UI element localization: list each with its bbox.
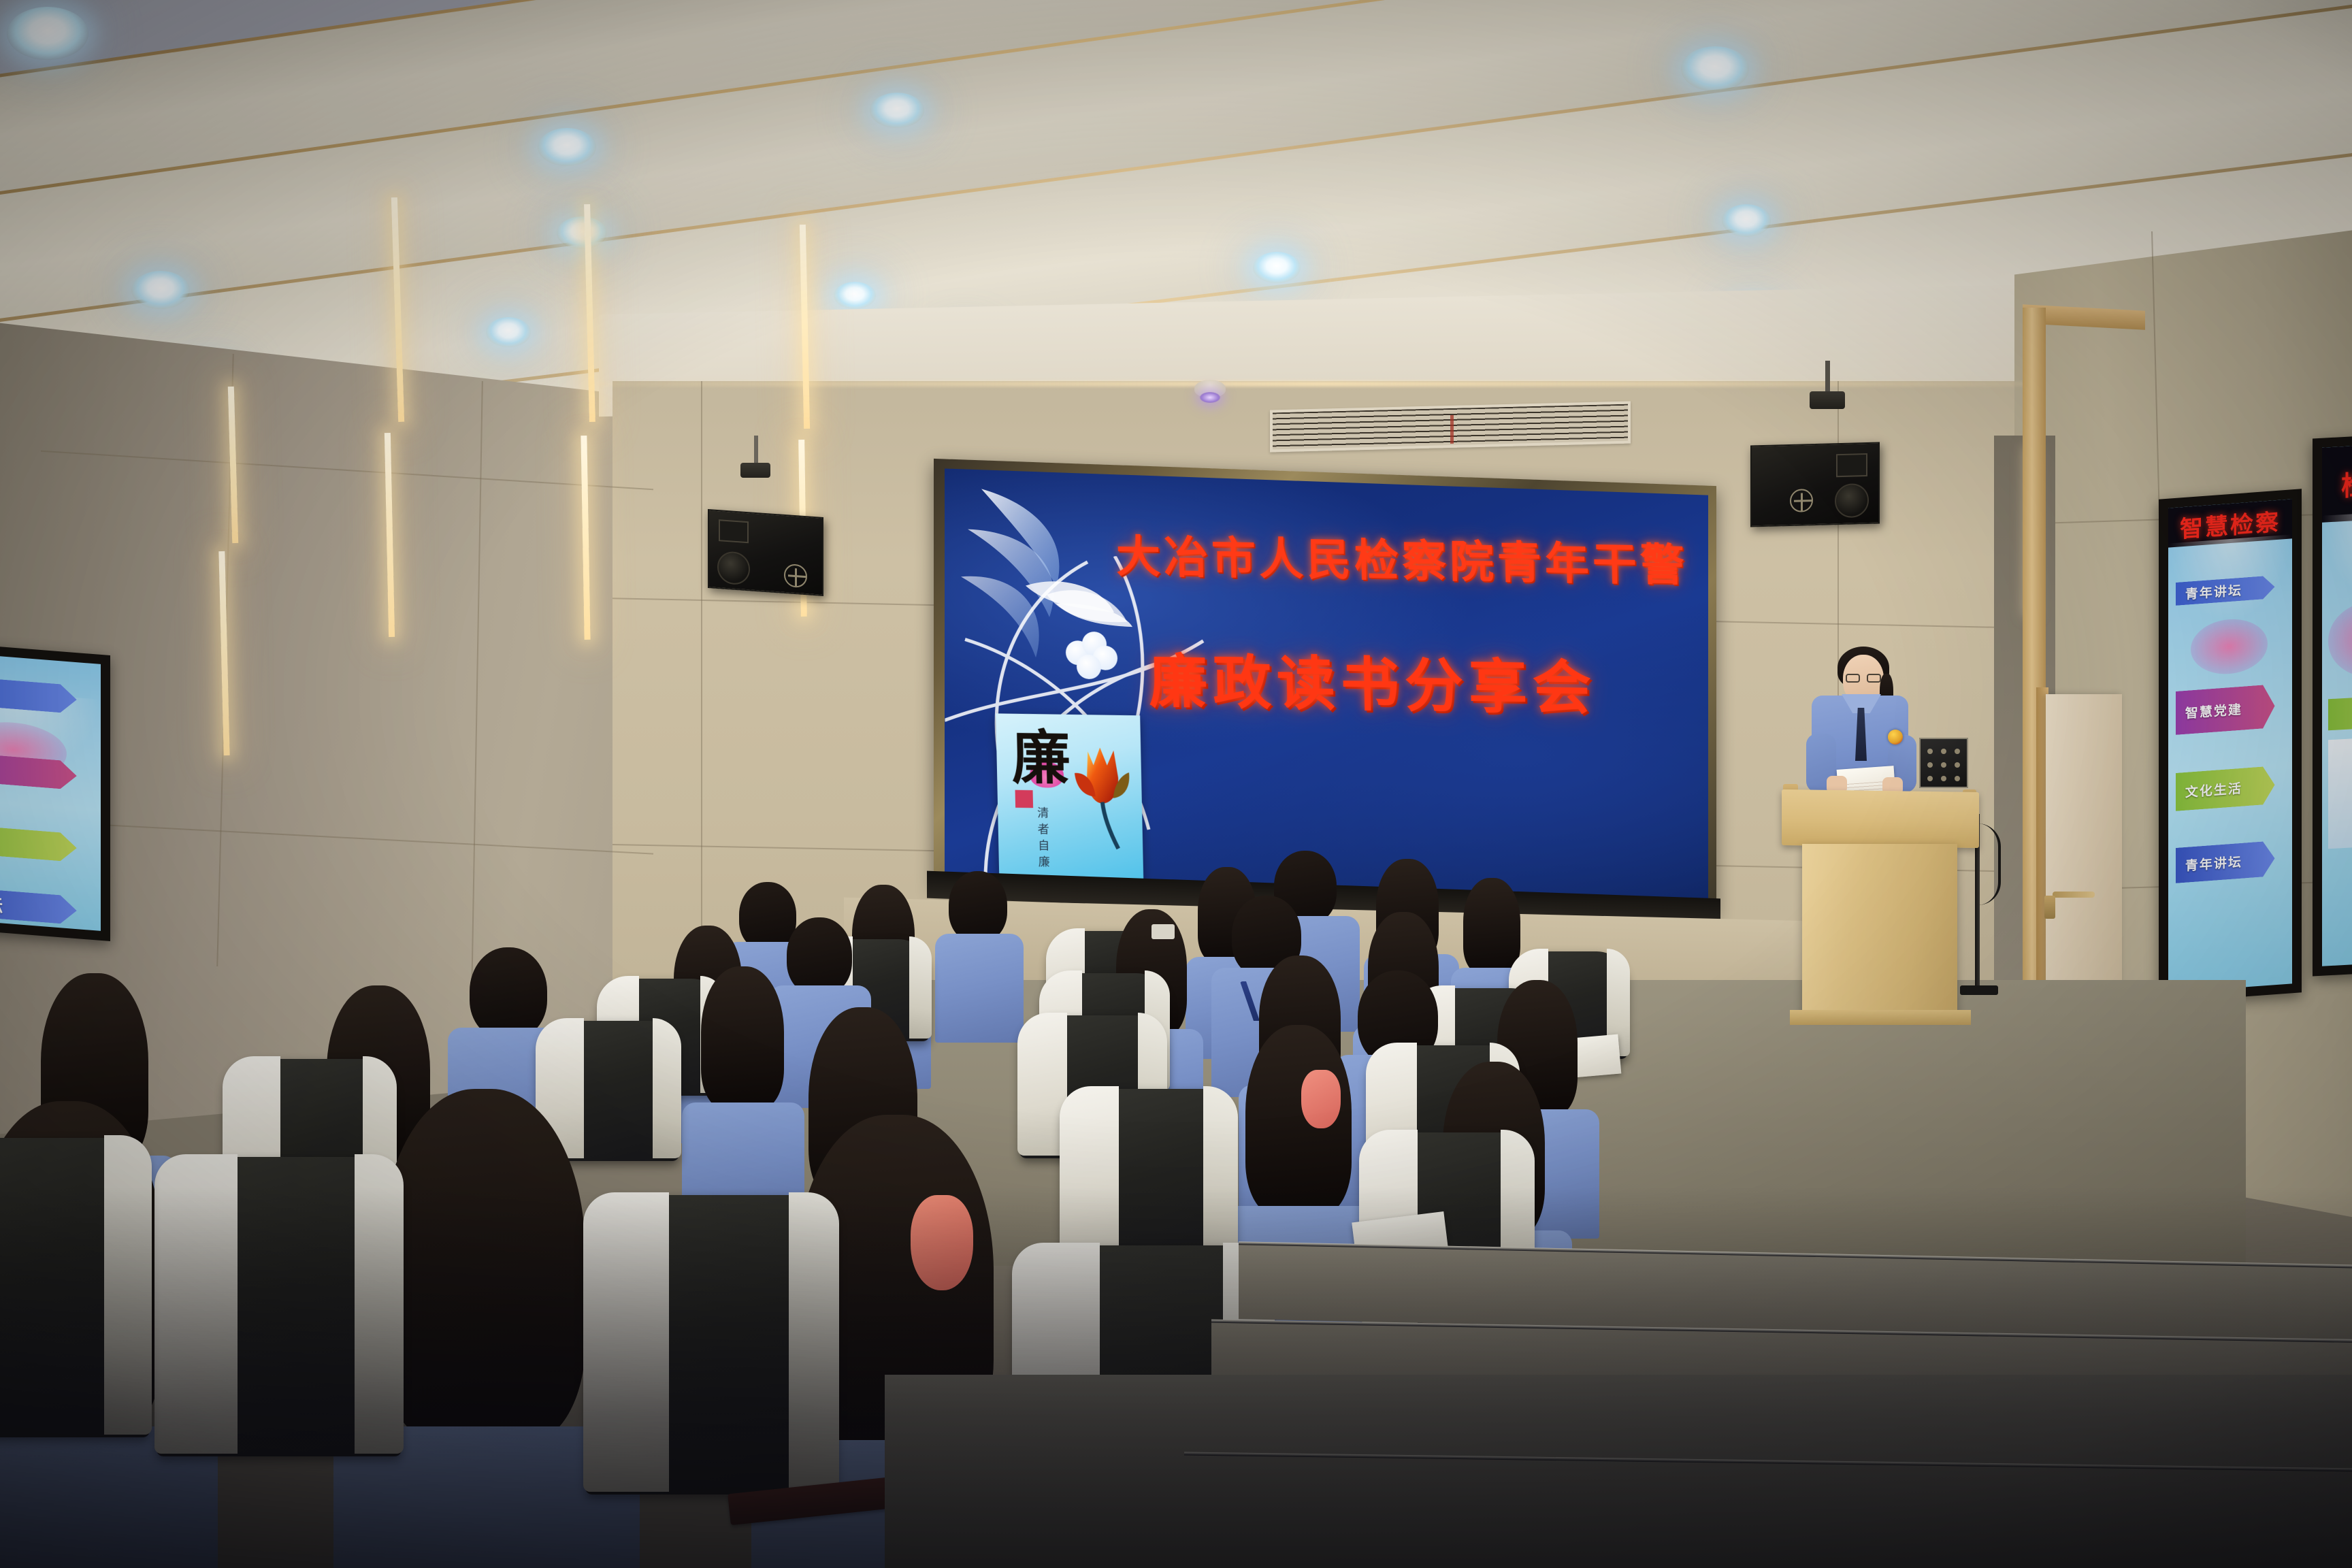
podium-body <box>1802 844 1957 1014</box>
glasses-icon <box>1846 674 1881 683</box>
kiosk-item-label: 青年讲坛 <box>2185 580 2242 602</box>
auditorium-seat[interactable] <box>585 1195 837 1494</box>
kiosk-photo-panel <box>2328 736 2352 849</box>
kiosk-menu-item-2[interactable]: 生活 <box>0 823 77 862</box>
audience-head <box>949 871 1007 942</box>
yamaha-tuning-fork-icon <box>1790 489 1813 512</box>
yamaha-tuning-fork-icon <box>784 563 807 588</box>
ceiling-downlight <box>1253 252 1301 283</box>
auditorium-seat[interactable] <box>157 1157 402 1456</box>
wall-speaker-right <box>1750 442 1880 527</box>
smoke-detector-icon <box>1194 380 1226 397</box>
conference-hall-scene: 大冶市人民检察院青年干警 廉政读书分享会 廉 清者自廉 <box>0 0 2352 1568</box>
kiosk-menu-item-3[interactable]: 青年讲坛 <box>2176 840 2275 883</box>
ceiling-downlight <box>1681 46 1749 91</box>
kiosk-green-band <box>2328 695 2352 731</box>
audience-hair <box>1245 1025 1352 1215</box>
right-kiosk-1-screen: 智慧检察 青年讲坛 智慧党建 文化生活 青年讲坛 <box>2168 499 2292 992</box>
kiosk-item-label: 智慧党建 <box>2185 699 2242 721</box>
kiosk-item-label: 青年讲坛 <box>2185 851 2242 874</box>
kiosk-header-title: 检察 <box>2322 442 2352 522</box>
kiosk-item-label: 年讲坛 <box>0 888 4 917</box>
screen-title-line1: 大冶市人民检察院青年干警 <box>1115 533 1661 589</box>
door-handle[interactable] <box>2053 892 2095 898</box>
microphone-stand-base <box>1960 985 1998 995</box>
kiosk-blob-decoration <box>2191 617 2268 676</box>
kiosk-glow <box>2322 510 2352 597</box>
main-led-screen: 大冶市人民检察院青年干警 廉政读书分享会 廉 清者自廉 <box>945 468 1708 903</box>
aisle-floor-foreground <box>885 1375 2352 1568</box>
ceiling-downlight <box>1722 204 1771 237</box>
podium-top <box>1782 789 1979 848</box>
speaker-cone <box>1835 483 1869 518</box>
book-cover-subtitle: 清者自廉 <box>1033 806 1051 872</box>
speaker-port <box>719 519 749 543</box>
screen-title-line2: 廉政读书分享会 <box>1148 651 1708 721</box>
door-lock-plate[interactable] <box>2044 896 2055 919</box>
tulip-flower-icon <box>1070 740 1137 850</box>
podium-base <box>1790 1010 1971 1025</box>
ceiling-downlight <box>7 7 88 60</box>
air-vent <box>1270 402 1631 453</box>
book-cover-image: 廉 清者自廉 <box>996 713 1144 899</box>
kiosk-blob-decoration <box>2328 600 2352 679</box>
ceiling-mount-rod <box>754 436 758 465</box>
ceiling-downlight <box>834 282 876 309</box>
ceiling-downlight <box>486 317 531 347</box>
speaker-cone <box>717 551 750 585</box>
wall-speaker-left <box>708 509 823 596</box>
kiosk-menu-item-3[interactable]: 年讲坛 <box>0 885 77 925</box>
left-wall-kiosk-display[interactable]: 讲坛 党建 生活 年讲坛 <box>0 640 110 941</box>
book-cover-character: 廉 <box>1011 729 1071 788</box>
audience-head <box>470 947 547 1039</box>
microphone-cable <box>1978 823 2001 905</box>
projector-mount-icon <box>740 463 770 478</box>
speaker-port <box>1836 453 1867 477</box>
audience-hair <box>701 966 784 1109</box>
right-wall-kiosk-display-1[interactable]: 智慧检察 青年讲坛 智慧党建 文化生活 青年讲坛 <box>2159 489 2302 1002</box>
audience-hair <box>381 1089 585 1443</box>
main-led-screen-frame: 大冶市人民检察院青年干警 廉政读书分享会 廉 清者自廉 <box>934 459 1716 915</box>
kiosk-menu-item-0[interactable]: 讲坛 <box>0 674 77 714</box>
right-wall-kiosk-display-2[interactable]: 检察 <box>2313 433 2352 977</box>
audience-body <box>935 934 1024 1043</box>
hair-clip-icon <box>911 1195 973 1290</box>
kiosk-item-label: 文化生活 <box>2185 778 2242 800</box>
auditorium-seat[interactable] <box>0 1138 150 1437</box>
ceiling-downlight <box>870 93 924 128</box>
prosecutor-badge-icon <box>1888 730 1903 745</box>
audience-head <box>787 917 852 995</box>
flower-decoration-icon <box>1066 631 1117 681</box>
ceiling-downlight <box>557 216 607 249</box>
hair-clip-icon <box>1151 924 1175 939</box>
right-kiosk-2-screen: 检察 <box>2322 442 2352 966</box>
av-control-panel[interactable] <box>1919 738 1968 788</box>
audience-head <box>739 882 796 950</box>
seal-stamp-icon <box>1015 790 1034 808</box>
audience-hair <box>1463 878 1520 973</box>
kiosk-menu-item-1[interactable]: 智慧党建 <box>2176 684 2275 735</box>
projector-mount-icon <box>1810 391 1845 409</box>
ceiling-downlight <box>538 128 596 166</box>
hair-clip-icon <box>1301 1070 1341 1128</box>
left-kiosk-screen: 讲坛 党建 生活 年讲坛 <box>0 651 101 931</box>
ceiling-downlight <box>131 271 190 309</box>
kiosk-menu-item-2[interactable]: 文化生活 <box>2176 766 2275 811</box>
